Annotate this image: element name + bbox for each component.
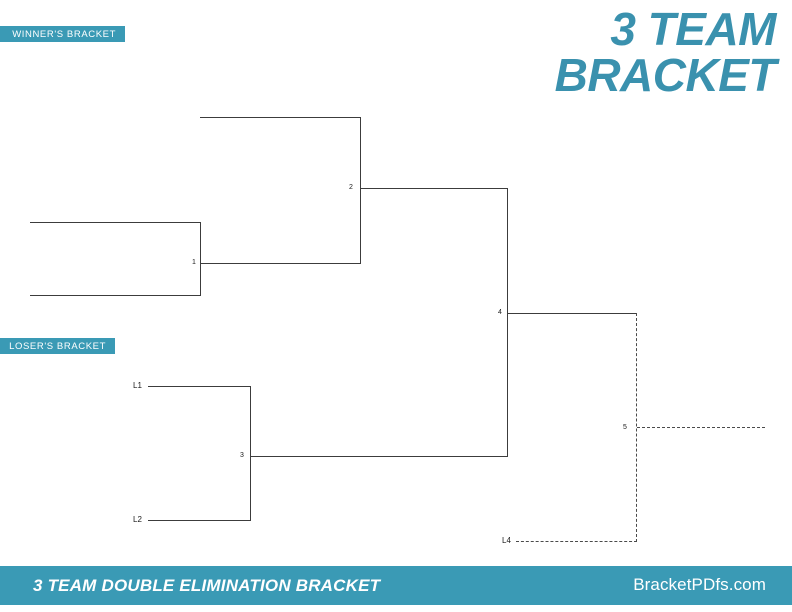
slot-label-l4: L4 <box>502 537 511 545</box>
footer-website-link[interactable]: BracketPDfs.com <box>633 575 766 595</box>
match-4-connector <box>507 188 508 457</box>
match-4-output-line <box>507 313 637 314</box>
match-5-bottom-slot-line <box>516 541 637 542</box>
match-3-bottom-slot-line <box>148 520 251 521</box>
page-title: 3 TEAM BRACKET <box>346 6 776 98</box>
match-2-top-slot-line <box>200 117 361 118</box>
match-2-connector <box>360 117 361 264</box>
match-1-connector <box>200 222 201 296</box>
page-title-line-1: 3 TEAM <box>346 6 776 52</box>
page-title-line-2: BRACKET <box>346 52 776 98</box>
losers-bracket-banner: LOSER'S BRACKET <box>0 338 115 354</box>
match-5-number: 5 <box>623 424 627 431</box>
match-1-bottom-slot-line <box>30 295 201 296</box>
slot-label-l1: L1 <box>133 382 142 390</box>
match-1-output-line <box>200 263 361 264</box>
match-2-number: 2 <box>349 184 353 191</box>
winners-bracket-banner: WINNER'S BRACKET <box>0 26 125 42</box>
match-3-top-slot-line <box>148 386 251 387</box>
footer-title: 3 TEAM DOUBLE ELIMINATION BRACKET <box>33 576 380 596</box>
match-1-number: 1 <box>192 259 196 266</box>
match-2-output-line <box>360 188 508 189</box>
winners-bracket-banner-label: WINNER'S BRACKET <box>12 29 116 40</box>
match-3-connector <box>250 386 251 521</box>
slot-label-l2: L2 <box>133 516 142 524</box>
match-3-output-line <box>250 456 508 457</box>
match-4-number: 4 <box>498 309 502 316</box>
losers-bracket-banner-label: LOSER'S BRACKET <box>9 341 106 352</box>
match-5-output-line <box>637 427 765 428</box>
match-1-top-slot-line <box>30 222 201 223</box>
match-3-number: 3 <box>240 452 244 459</box>
